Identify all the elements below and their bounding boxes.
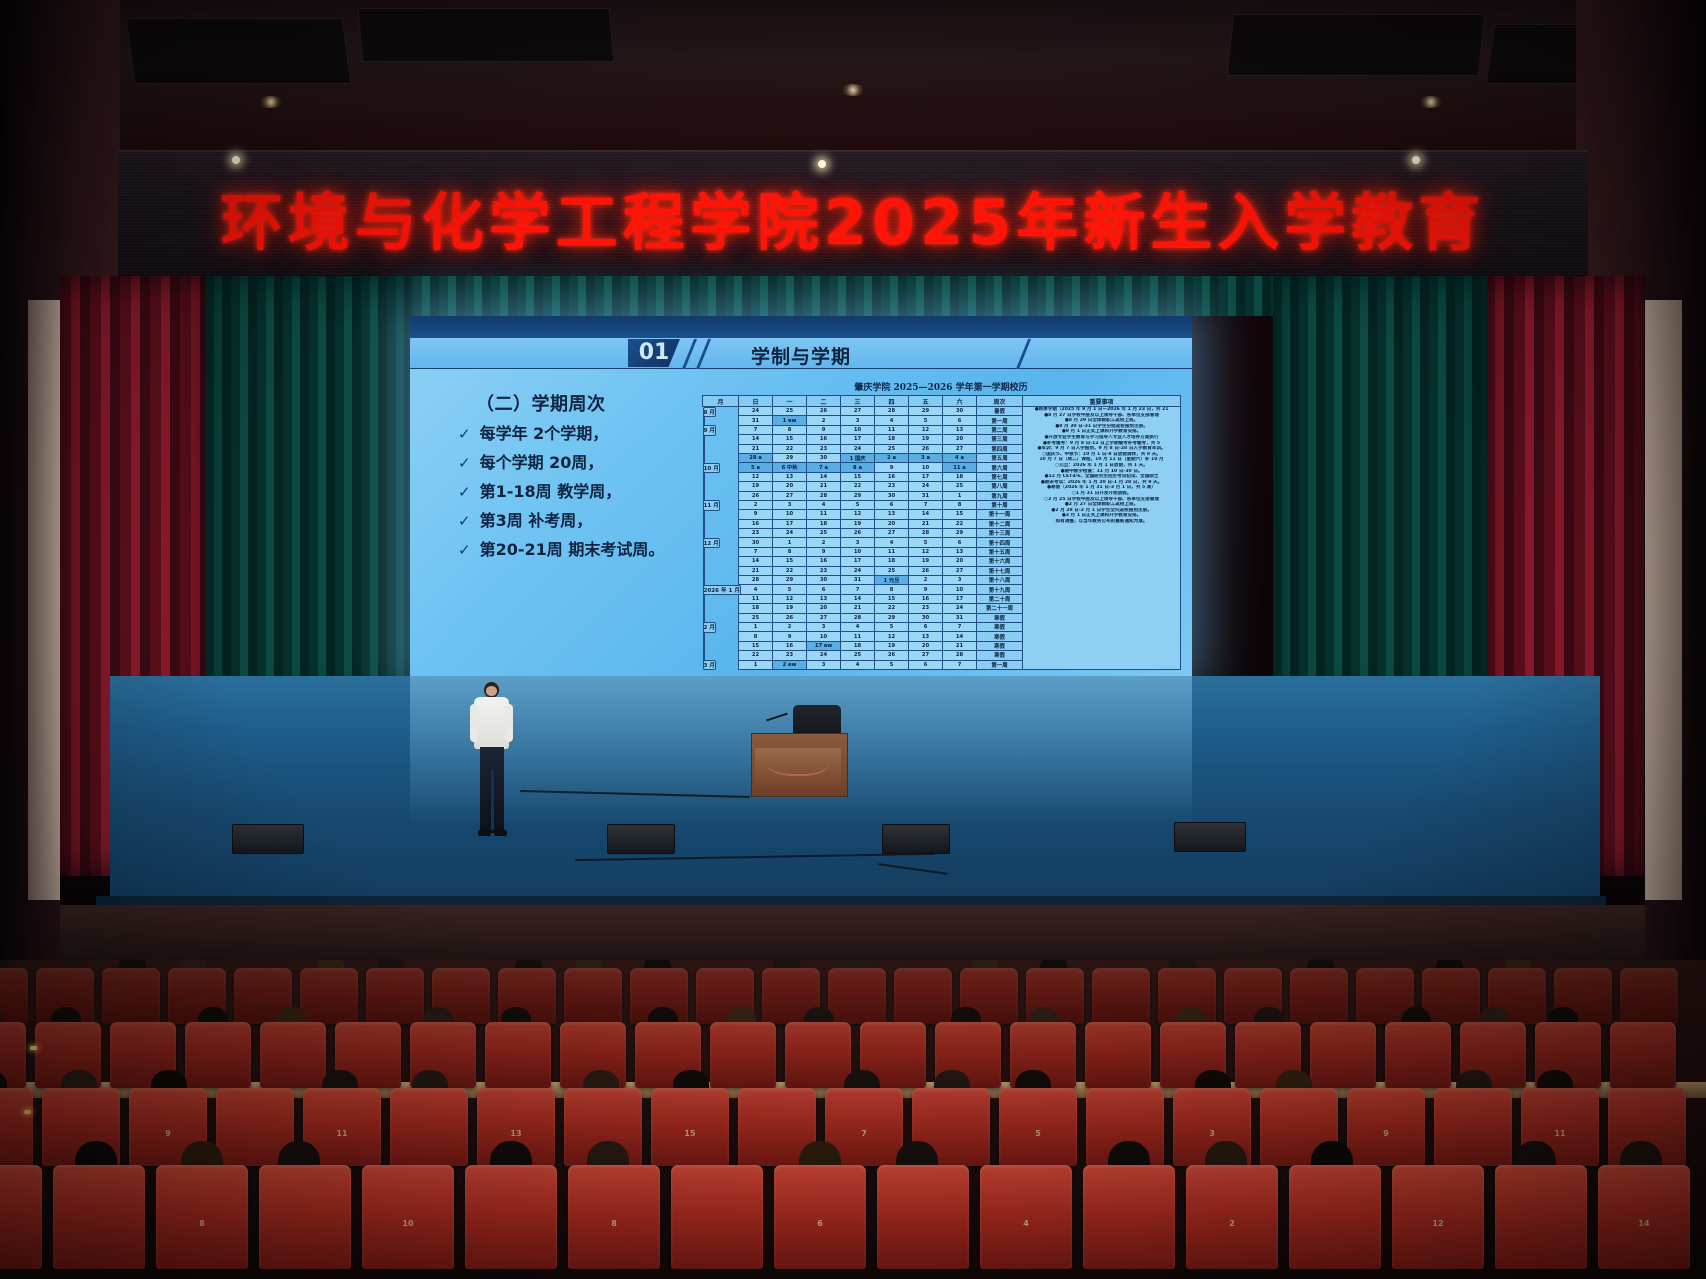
calendar-day-cell: 20	[909, 641, 943, 650]
audience-seat[interactable]	[671, 1165, 763, 1269]
projection-screen: 01 学制与学期 （二）学期周次 ✓ 每学年 2个学期， ✓ 每个学期 20周，…	[410, 316, 1192, 678]
calendar-day-cell: 28	[875, 407, 909, 416]
calendar-day-cell: 2 a	[875, 453, 909, 462]
calendar-col-header: 周次	[977, 396, 1023, 407]
calendar-day-cell: 19	[909, 435, 943, 444]
calendar-day-cell: 26	[909, 566, 943, 575]
calendar-day-cell: 25	[739, 613, 773, 622]
calendar-day-cell: 28	[807, 491, 841, 500]
calendar-col-header: 五	[909, 396, 943, 407]
calendar-day-cell: 7	[943, 660, 977, 669]
calendar-day-cell: 9	[807, 547, 841, 556]
seat-number-label: 14	[1598, 1219, 1690, 1228]
audience-seat[interactable]	[366, 968, 424, 1024]
calendar-day-cell: 3	[943, 576, 977, 585]
ceiling-panel	[125, 18, 351, 84]
calendar-week-cell: 寒假	[977, 613, 1023, 622]
calendar-day-cell: 6	[943, 538, 977, 547]
audience-seat[interactable]: 15	[651, 1088, 729, 1166]
calendar-week-cell: 寒假	[977, 651, 1023, 660]
calendar-week-cell: 第十六周	[977, 557, 1023, 566]
calendar-week-cell: 寒假	[977, 622, 1023, 631]
calendar-col-header: 日	[739, 396, 773, 407]
calendar-day-cell: 10	[943, 585, 977, 594]
calendar-day-cell: 26	[773, 613, 807, 622]
calendar-week-cell: 第四周	[977, 444, 1023, 453]
audience-seat[interactable]	[102, 968, 160, 1024]
audience-seat[interactable]	[828, 968, 886, 1024]
bullet-item: ✓ 第20-21周 期末考试周。	[458, 541, 718, 559]
audience-seat[interactable]	[1310, 1022, 1376, 1088]
calendar-month-cell: 9 月	[703, 425, 716, 435]
audience-seat[interactable]	[485, 1022, 551, 1088]
bullets-heading: （二）学期周次	[476, 390, 718, 416]
calendar-day-cell: 1	[739, 622, 773, 631]
calendar-day-cell: 15	[841, 472, 875, 481]
calendar-day-cell: 28	[943, 651, 977, 660]
calendar-day-cell: 4	[875, 538, 909, 547]
calendar-day-cell: 7	[909, 500, 943, 509]
calendar-day-cell: 15	[773, 557, 807, 566]
audience-seat[interactable]: 10	[362, 1165, 454, 1269]
calendar-week-cell: 第十二周	[977, 519, 1023, 528]
drape-right	[1273, 276, 1488, 716]
calendar-col-header: 一	[773, 396, 807, 407]
bullet-item: ✓ 每个学期 20周，	[458, 454, 718, 472]
calendar-header-row: 月日一二三四五六周次重要事项	[703, 396, 1181, 407]
calendar-day-cell: 26	[909, 444, 943, 453]
presenter-arm-left	[470, 704, 478, 742]
seat-number-label: 9	[129, 1129, 207, 1138]
calendar-note-item: ●12 月 CET4/6、全国研究生招生考试初试、全国硕士	[1023, 474, 1180, 480]
calendar-day-cell: 13	[773, 472, 807, 481]
audience-seat[interactable]	[300, 968, 358, 1024]
audience-seat[interactable]: 14	[1598, 1165, 1690, 1269]
calendar-day-cell: 14	[841, 594, 875, 603]
calendar-day-cell: 28	[841, 613, 875, 622]
check-icon: ✓	[458, 425, 471, 443]
calendar-week-cell: 第二十一周	[977, 604, 1023, 613]
seat-number-label: 7	[825, 1129, 903, 1138]
calendar-day-cell: 21	[807, 482, 841, 491]
calendar-day-cell: 15	[773, 435, 807, 444]
drape-left	[205, 276, 410, 716]
audience-seat[interactable]	[390, 1088, 468, 1166]
audience-seat[interactable]	[1495, 1165, 1587, 1269]
calendar-week-cell: 第十九周	[977, 585, 1023, 594]
calendar-day-cell: 4	[875, 416, 909, 425]
calendar-day-cell: 3	[773, 500, 807, 509]
calendar-week-cell: 第十八周	[977, 576, 1023, 585]
bullet-item: ✓ 每学年 2个学期，	[458, 425, 718, 443]
audience-seat[interactable]: 4	[980, 1165, 1072, 1269]
calendar-day-cell: 6	[807, 585, 841, 594]
presenter-torso	[474, 697, 509, 749]
calendar-day-cell: 31	[943, 613, 977, 622]
bullet-text: 每个学期 20周，	[480, 454, 604, 472]
calendar-week-cell: 第二周	[977, 425, 1023, 434]
calendar-week-cell: 第六周	[977, 463, 1023, 472]
calendar-day-cell: 18	[807, 519, 841, 528]
calendar-day-cell: 27	[875, 529, 909, 538]
check-icon: ✓	[458, 512, 471, 530]
calendar-day-cell: 19	[875, 641, 909, 650]
calendar-day-cell: 17	[773, 519, 807, 528]
calendar-day-cell: 27	[909, 651, 943, 660]
calendar-week-cell: 第一周	[977, 416, 1023, 425]
calendar-day-cell: 1 元旦	[875, 576, 909, 585]
calendar-week-cell: 第十一周	[977, 510, 1023, 519]
bullet-block: （二）学期周次 ✓ 每学年 2个学期， ✓ 每个学期 20周， ✓ 第1-18周…	[458, 390, 718, 570]
calendar-day-cell: 20	[875, 519, 909, 528]
calendar-week-cell: 暑假	[977, 407, 1023, 416]
audience-seat[interactable]	[1434, 1088, 1512, 1166]
calendar-day-cell: 8 a	[841, 463, 875, 472]
calendar-week-cell: 寒假	[977, 641, 1023, 650]
calendar-day-cell: 11 a	[943, 463, 977, 472]
calendar-day-cell: 5	[773, 585, 807, 594]
calendar-day-cell: 14	[943, 632, 977, 641]
presenter-arm-right	[505, 704, 513, 742]
calendar-day-cell: 16	[807, 557, 841, 566]
bullet-text: 第20-21周 期末考试周。	[480, 541, 665, 559]
calendar-day-cell: 18	[875, 435, 909, 444]
ceiling-light	[258, 96, 284, 108]
audience-seat[interactable]	[877, 1165, 969, 1269]
calendar-day-cell: 17	[841, 435, 875, 444]
calendar-day-cell: 3	[841, 538, 875, 547]
seat-number-label: 11	[303, 1129, 381, 1138]
seat-number-label: 15	[651, 1129, 729, 1138]
check-icon: ✓	[458, 483, 471, 501]
audience-seat[interactable]	[53, 1165, 145, 1269]
calendar-day-cell: 1	[943, 491, 977, 500]
seat-number-label: 13	[477, 1129, 555, 1138]
calendar-day-cell: 27	[943, 566, 977, 575]
calendar-day-cell: 13	[943, 425, 977, 434]
calendar-month-cell: 2026 年 1 月	[703, 585, 742, 595]
step-light	[30, 1046, 37, 1050]
calendar-day-cell: 10	[773, 510, 807, 519]
calendar-day-cell: 23	[807, 444, 841, 453]
audience-seat[interactable]: 5	[999, 1088, 1077, 1166]
calendar-row: 8 月24252627282930暑假●秋季学期（2025 年 9 月 1 日—…	[703, 407, 1181, 416]
calendar-day-cell: 23	[875, 482, 909, 491]
slide-top-bar	[410, 316, 1192, 338]
calendar-day-cell: 7	[841, 585, 875, 594]
calendar-day-cell: 1	[773, 538, 807, 547]
calendar-day-cell: 24	[841, 566, 875, 575]
calendar-day-cell: 18	[943, 472, 977, 481]
calendar-day-cell: 31	[909, 491, 943, 500]
calendar-day-cell: 25	[875, 444, 909, 453]
calendar-table: 月日一二三四五六周次重要事项 8 月24252627282930暑假●秋季学期（…	[702, 395, 1181, 670]
calendar-day-cell: 7	[943, 622, 977, 631]
calendar-day-cell: 30	[875, 491, 909, 500]
check-icon: ✓	[458, 541, 471, 559]
calendar-day-cell: 2	[739, 500, 773, 509]
calendar-week-cell: 第八周	[977, 482, 1023, 491]
audience-seat[interactable]: 12	[1392, 1165, 1484, 1269]
calendar-week-cell: 第十四周	[977, 538, 1023, 547]
step-light	[24, 1110, 31, 1114]
calendar-day-cell: 24	[943, 604, 977, 613]
calendar-day-cell: 15	[943, 510, 977, 519]
calendar-day-cell: 2	[773, 622, 807, 631]
audience-seat[interactable]	[1620, 968, 1678, 1024]
calendar-week-cell: 第二十周	[977, 594, 1023, 603]
calendar-day-cell: 6	[909, 622, 943, 631]
audience-seat[interactable]	[1422, 968, 1480, 1024]
seat-number-label: 3	[0, 1129, 33, 1138]
calendar-day-cell: 18	[875, 557, 909, 566]
calendar-day-cell: 24	[739, 407, 773, 416]
calendar-day-cell: 24	[773, 529, 807, 538]
calendar-day-cell: 9	[875, 463, 909, 472]
calendar-day-cell: 24	[841, 444, 875, 453]
audience-seat[interactable]	[1092, 968, 1150, 1024]
calendar-day-cell: 8	[875, 585, 909, 594]
ceiling-light	[840, 84, 866, 96]
audience-seat[interactable]: 2	[1186, 1165, 1278, 1269]
calendar-day-cell: 8	[773, 547, 807, 556]
calendar-day-cell: 25	[807, 529, 841, 538]
calendar-day-cell: 31	[841, 576, 875, 585]
seat-number-label: 2	[0, 1219, 42, 1228]
calendar-day-cell: 2	[807, 538, 841, 547]
audience-seat[interactable]: 2	[0, 1165, 42, 1269]
calendar-day-cell: 10	[909, 463, 943, 472]
audience-seat[interactable]	[1085, 1022, 1151, 1088]
calendar-day-cell: 28 a	[739, 453, 773, 462]
seat-number-label: 8	[568, 1219, 660, 1228]
calendar-col-header: 六	[943, 396, 977, 407]
calendar-day-cell: 26	[841, 529, 875, 538]
calendar-day-cell: 16	[875, 472, 909, 481]
calendar-day-cell: 29	[841, 491, 875, 500]
calendar-col-header: 三	[841, 396, 875, 407]
calendar-week-cell: 第十周	[977, 500, 1023, 509]
calendar-day-cell: 1	[739, 660, 773, 669]
calendar-day-cell: 10	[841, 547, 875, 556]
ceiling-light	[1418, 96, 1444, 108]
calendar-day-cell: 16	[807, 435, 841, 444]
banner-spot-light	[232, 156, 240, 164]
bullet-text: 第1-18周 教学周，	[480, 483, 622, 501]
audience-seat[interactable]: 8	[156, 1165, 248, 1269]
seat-number-label: 6	[774, 1219, 866, 1228]
slide-title: 学制与学期	[410, 342, 1192, 369]
calendar-week-cell: 第九周	[977, 491, 1023, 500]
calendar-month-cell: 8 月	[703, 407, 716, 417]
calendar-day-cell: 24	[807, 651, 841, 660]
calendar-week-cell: 第十五周	[977, 547, 1023, 556]
calendar-day-cell: 24	[909, 482, 943, 491]
calendar-month-cell	[703, 566, 705, 576]
calendar-day-cell: 9	[909, 585, 943, 594]
calendar-day-cell: 28	[739, 576, 773, 585]
banner-spot-light	[1412, 156, 1420, 164]
calendar-day-cell: 5	[909, 416, 943, 425]
audience-seat[interactable]	[259, 1165, 351, 1269]
calendar-month-cell: 10 月	[703, 463, 720, 473]
calendar-day-cell: 8	[773, 425, 807, 434]
bullet-text: 第3周 补考周，	[480, 512, 593, 530]
audience-seat[interactable]	[0, 968, 28, 1024]
calendar-day-cell: 21	[841, 604, 875, 613]
led-banner: 环境与化学工程学院2025年新生入学教育	[118, 150, 1588, 282]
calendar-day-cell: 3	[807, 622, 841, 631]
calendar-day-cell: 18	[841, 641, 875, 650]
audience-seat[interactable]	[1083, 1165, 1175, 1269]
calendar-day-cell: 5 a	[739, 463, 773, 472]
calendar-day-cell: 8	[943, 500, 977, 509]
calendar-day-cell: 20	[807, 604, 841, 613]
floor-monitor	[232, 824, 304, 854]
calendar-day-cell: 14	[739, 435, 773, 444]
calendar-day-cell: 17	[943, 594, 977, 603]
seat-number-label: 10	[362, 1219, 454, 1228]
audience-seat[interactable]	[710, 1022, 776, 1088]
audience-seat[interactable]	[1385, 1022, 1451, 1088]
audience-seat[interactable]	[1610, 1022, 1676, 1088]
calendar-day-cell: 5	[875, 660, 909, 669]
bullet-item: ✓ 第1-18周 教学周，	[458, 483, 718, 501]
calendar-note-item: 如有调整，以当年教务公布的最新通知为准。	[1023, 519, 1180, 525]
calendar-col-header: 重要事项	[1023, 396, 1181, 407]
audience-seat[interactable]	[1289, 1165, 1381, 1269]
calendar-day-cell: 22	[773, 444, 807, 453]
audience-seat[interactable]: 9	[1347, 1088, 1425, 1166]
audience-seat[interactable]: 6	[774, 1165, 866, 1269]
calendar-day-cell: 29	[773, 576, 807, 585]
calendar-day-cell: 12	[773, 594, 807, 603]
calendar-day-cell: 4	[739, 585, 773, 594]
calendar-day-cell: 11	[739, 594, 773, 603]
calendar-day-cell: 8	[739, 632, 773, 641]
calendar-day-cell: 25	[943, 482, 977, 491]
calendar-day-cell: 5	[875, 622, 909, 631]
calendar-day-cell: 11	[875, 425, 909, 434]
ceiling-panel	[358, 8, 615, 62]
calendar-day-cell: 16	[773, 641, 807, 650]
calendar-note-item: ●军训：9 月 7 日入学报到，9 月 8 日-28 日入学教育军训。	[1023, 446, 1180, 452]
calendar-day-cell: 27	[841, 407, 875, 416]
calendar-month-cell: 3 月	[703, 660, 716, 670]
calendar-col-header: 四	[875, 396, 909, 407]
calendar-day-cell: 12	[841, 510, 875, 519]
calendar-day-cell: 29	[943, 529, 977, 538]
calendar-day-cell: 27	[807, 613, 841, 622]
calendar-day-cell: 4	[807, 500, 841, 509]
calendar-day-cell: 30	[909, 613, 943, 622]
calendar-day-cell: 18	[739, 604, 773, 613]
calendar-day-cell: 2	[807, 416, 841, 425]
calendar-day-cell: 14	[909, 510, 943, 519]
audience-seat[interactable]	[260, 1022, 326, 1088]
calendar-day-cell: 1 国庆	[841, 453, 875, 462]
calendar-day-cell: 6	[875, 500, 909, 509]
calendar-day-cell: 13	[807, 594, 841, 603]
audience-seat[interactable]	[894, 968, 952, 1024]
audience-seating: 39111315753911281086421214	[0, 960, 1706, 1279]
calendar-day-cell: 16	[909, 594, 943, 603]
calendar-day-cell: 13	[943, 547, 977, 556]
calendar-day-cell: 29	[875, 613, 909, 622]
calendar-day-cell: 9	[739, 510, 773, 519]
calendar-day-cell: 17	[909, 472, 943, 481]
calendar-day-cell: 30	[943, 407, 977, 416]
calendar-week-cell: 第三周	[977, 435, 1023, 444]
auditorium-photo: 环境与化学工程学院2025年新生入学教育 01 学制与学期 （二）学期周次 ✓ …	[0, 0, 1706, 1279]
calendar-day-cell: 5	[841, 500, 875, 509]
calendar-week-cell: 第十三周	[977, 529, 1023, 538]
calendar-day-cell: 2	[909, 576, 943, 585]
seat-number-label: 9	[1347, 1129, 1425, 1138]
audience-seat[interactable]	[785, 1022, 851, 1088]
calendar-day-cell: 19	[773, 604, 807, 613]
calendar-day-cell: 1 ew	[773, 416, 807, 425]
audience-seat[interactable]	[1290, 968, 1348, 1024]
calendar-day-cell: 6	[909, 660, 943, 669]
bullet-item: ✓ 第3周 补考周，	[458, 512, 718, 530]
audience-seat[interactable]: 8	[568, 1165, 660, 1269]
calendar-day-cell: 19	[909, 557, 943, 566]
calendar-day-cell: 7 a	[807, 463, 841, 472]
calendar-day-cell: 25	[773, 407, 807, 416]
calendar-day-cell: 12	[909, 547, 943, 556]
presenter-shoe	[494, 830, 507, 836]
calendar-day-cell: 26	[875, 651, 909, 660]
seat-number-label: 5	[999, 1129, 1077, 1138]
audience-seat[interactable]: 3	[0, 1088, 33, 1166]
calendar-day-cell: 22	[841, 482, 875, 491]
calendar-day-cell: 20	[943, 435, 977, 444]
seat-number-label: 3	[1173, 1129, 1251, 1138]
audience-seat[interactable]	[185, 1022, 251, 1088]
calendar-day-cell: 12	[875, 632, 909, 641]
calendar-day-cell: 29	[773, 453, 807, 462]
calendar-week-cell: 第十七周	[977, 566, 1023, 575]
calendar-day-cell: 3	[807, 660, 841, 669]
seat-number-label: 11	[1521, 1129, 1599, 1138]
seat-number-label: 12	[1392, 1219, 1484, 1228]
calendar-day-cell: 13	[909, 632, 943, 641]
calendar-note-item: ●开放专业学生教育与学习指导人专业人才培养方案执行	[1023, 435, 1180, 441]
calendar-day-cell: 12	[739, 472, 773, 481]
calendar-day-cell: 17	[841, 557, 875, 566]
calendar-day-cell: 3 a	[909, 453, 943, 462]
calendar-day-cell: 2 ew	[773, 660, 807, 669]
calendar-day-cell: 4	[841, 622, 875, 631]
bullet-text: 每学年 2个学期，	[480, 425, 609, 443]
calendar-day-cell: 22	[773, 566, 807, 575]
calendar-day-cell: 15	[739, 641, 773, 650]
ceiling-panel	[1227, 14, 1486, 76]
calendar-note-item: ●秋季学期（2025 年 9 月 1 日—2026 年 1 月 23 日，共 2…	[1023, 407, 1180, 413]
calendar-notes-cell: ●秋季学期（2025 年 9 月 1 日—2026 年 1 月 23 日，共 2…	[1023, 407, 1181, 670]
calendar-day-cell: 10	[807, 632, 841, 641]
calendar-day-cell: 25	[841, 651, 875, 660]
audience-seat[interactable]	[465, 1165, 557, 1269]
calendar-day-cell: 7	[739, 547, 773, 556]
audience-seat[interactable]	[564, 968, 622, 1024]
calendar-day-cell: 30	[739, 538, 773, 547]
calendar-day-cell: 19	[841, 519, 875, 528]
calendar-day-cell: 21	[739, 566, 773, 575]
calendar-day-cell: 22	[943, 519, 977, 528]
banner-title: 环境与化学工程学院2025年新生入学教育	[118, 172, 1588, 262]
